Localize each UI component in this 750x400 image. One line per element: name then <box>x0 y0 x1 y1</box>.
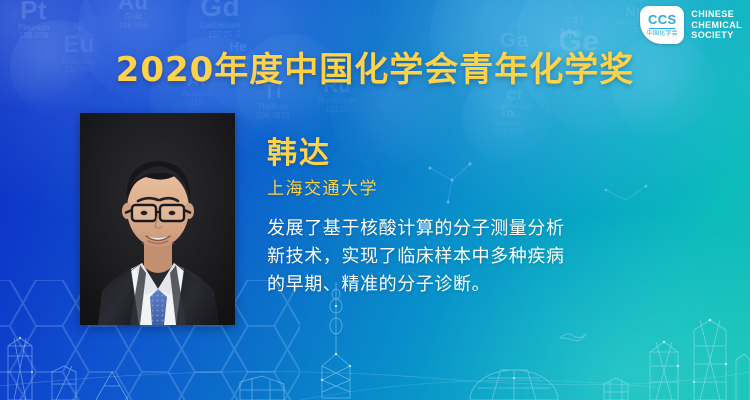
periodic-element-tile: 49InIndium114.818 <box>494 96 522 137</box>
element-symbol: Gd <box>200 0 240 22</box>
awardee-affiliation: 上海交通大学 <box>267 174 707 199</box>
element-symbol: Au <box>118 0 148 13</box>
periodic-element-tile: 64GdGadolinium157.25 <box>200 0 240 39</box>
element-number: 2 <box>226 30 251 40</box>
ccs-logo-mark: CCS <box>648 13 677 26</box>
element-number: 32 <box>558 16 600 26</box>
element-name: Gadolinium <box>200 22 240 31</box>
ccs-logo-badge: CCS 中国化学会 <box>640 6 684 44</box>
element-symbol: In <box>494 106 522 120</box>
element-symbol: Mo <box>548 26 594 42</box>
element-name: Californium <box>494 103 534 112</box>
element-weight: 101.07 <box>318 106 357 115</box>
periodic-element-tile: 79AuGold196.966 <box>118 0 148 31</box>
element-name: Indium <box>494 120 522 129</box>
awardee-photo <box>80 113 235 325</box>
element-weight: 157.25 <box>200 31 240 40</box>
awardee-name: 韩达 <box>267 137 707 170</box>
element-weight: 204.3833 <box>256 112 289 121</box>
element-name: Gold <box>118 13 148 22</box>
element-weight: 195.078 <box>18 32 49 41</box>
award-slide: 78PtPlatinum195.07879AuGold196.96663EuEu… <box>0 0 750 400</box>
page-title: 2020年度中国化学会青年化学奖 <box>0 42 750 91</box>
element-name: Platinum <box>18 24 49 33</box>
ccs-logo-line-1: CHINESE <box>691 9 742 20</box>
periodic-element-tile: 78PtPlatinum195.078 <box>18 0 49 41</box>
element-number: 42 <box>548 16 594 26</box>
element-weight: 196.966 <box>118 22 148 31</box>
element-weight: 251 <box>494 111 534 120</box>
ccs-logo-wordmark: CHINESE CHEMICAL SOCIETY <box>691 9 742 42</box>
element-name: Thallium <box>256 103 289 112</box>
awardee-info: 韩达 上海交通大学 发展了基于核酸计算的分子测量分析新技术，实现了临床样本中多种… <box>267 137 707 299</box>
element-name: Ruthenium <box>318 97 357 106</box>
awardee-photo-illustration <box>80 113 235 325</box>
element-number: 63 <box>62 22 96 32</box>
element-weight: 210 <box>182 99 211 108</box>
ccs-logo-divider <box>649 28 675 29</box>
description-line: 新技术，实现了临床样本中多种疾病 <box>267 243 707 271</box>
ccs-logo-mark-chinese: 中国化学会 <box>647 31 678 37</box>
element-number: 49 <box>494 96 522 106</box>
element-weight: 114.818 <box>494 128 522 137</box>
ccs-logo-line-3: SOCIETY <box>691 30 742 41</box>
element-name: Astatine <box>182 90 211 99</box>
ccs-logo-line-2: CHEMICAL <box>691 20 742 31</box>
element-symbol: Pt <box>18 0 49 24</box>
awardee-description: 发展了基于核酸计算的分子测量分析新技术，实现了临床样本中多种疾病的早期、精准的分… <box>267 215 707 299</box>
description-line: 发展了基于核酸计算的分子测量分析 <box>267 215 707 243</box>
element-number: 31 <box>500 20 529 30</box>
description-line: 的早期、精准的分子诊断。 <box>267 271 707 299</box>
ccs-logo: CCS 中国化学会 CHINESE CHEMICAL SOCIETY <box>640 6 742 44</box>
element-number: 93 <box>616 0 655 4</box>
